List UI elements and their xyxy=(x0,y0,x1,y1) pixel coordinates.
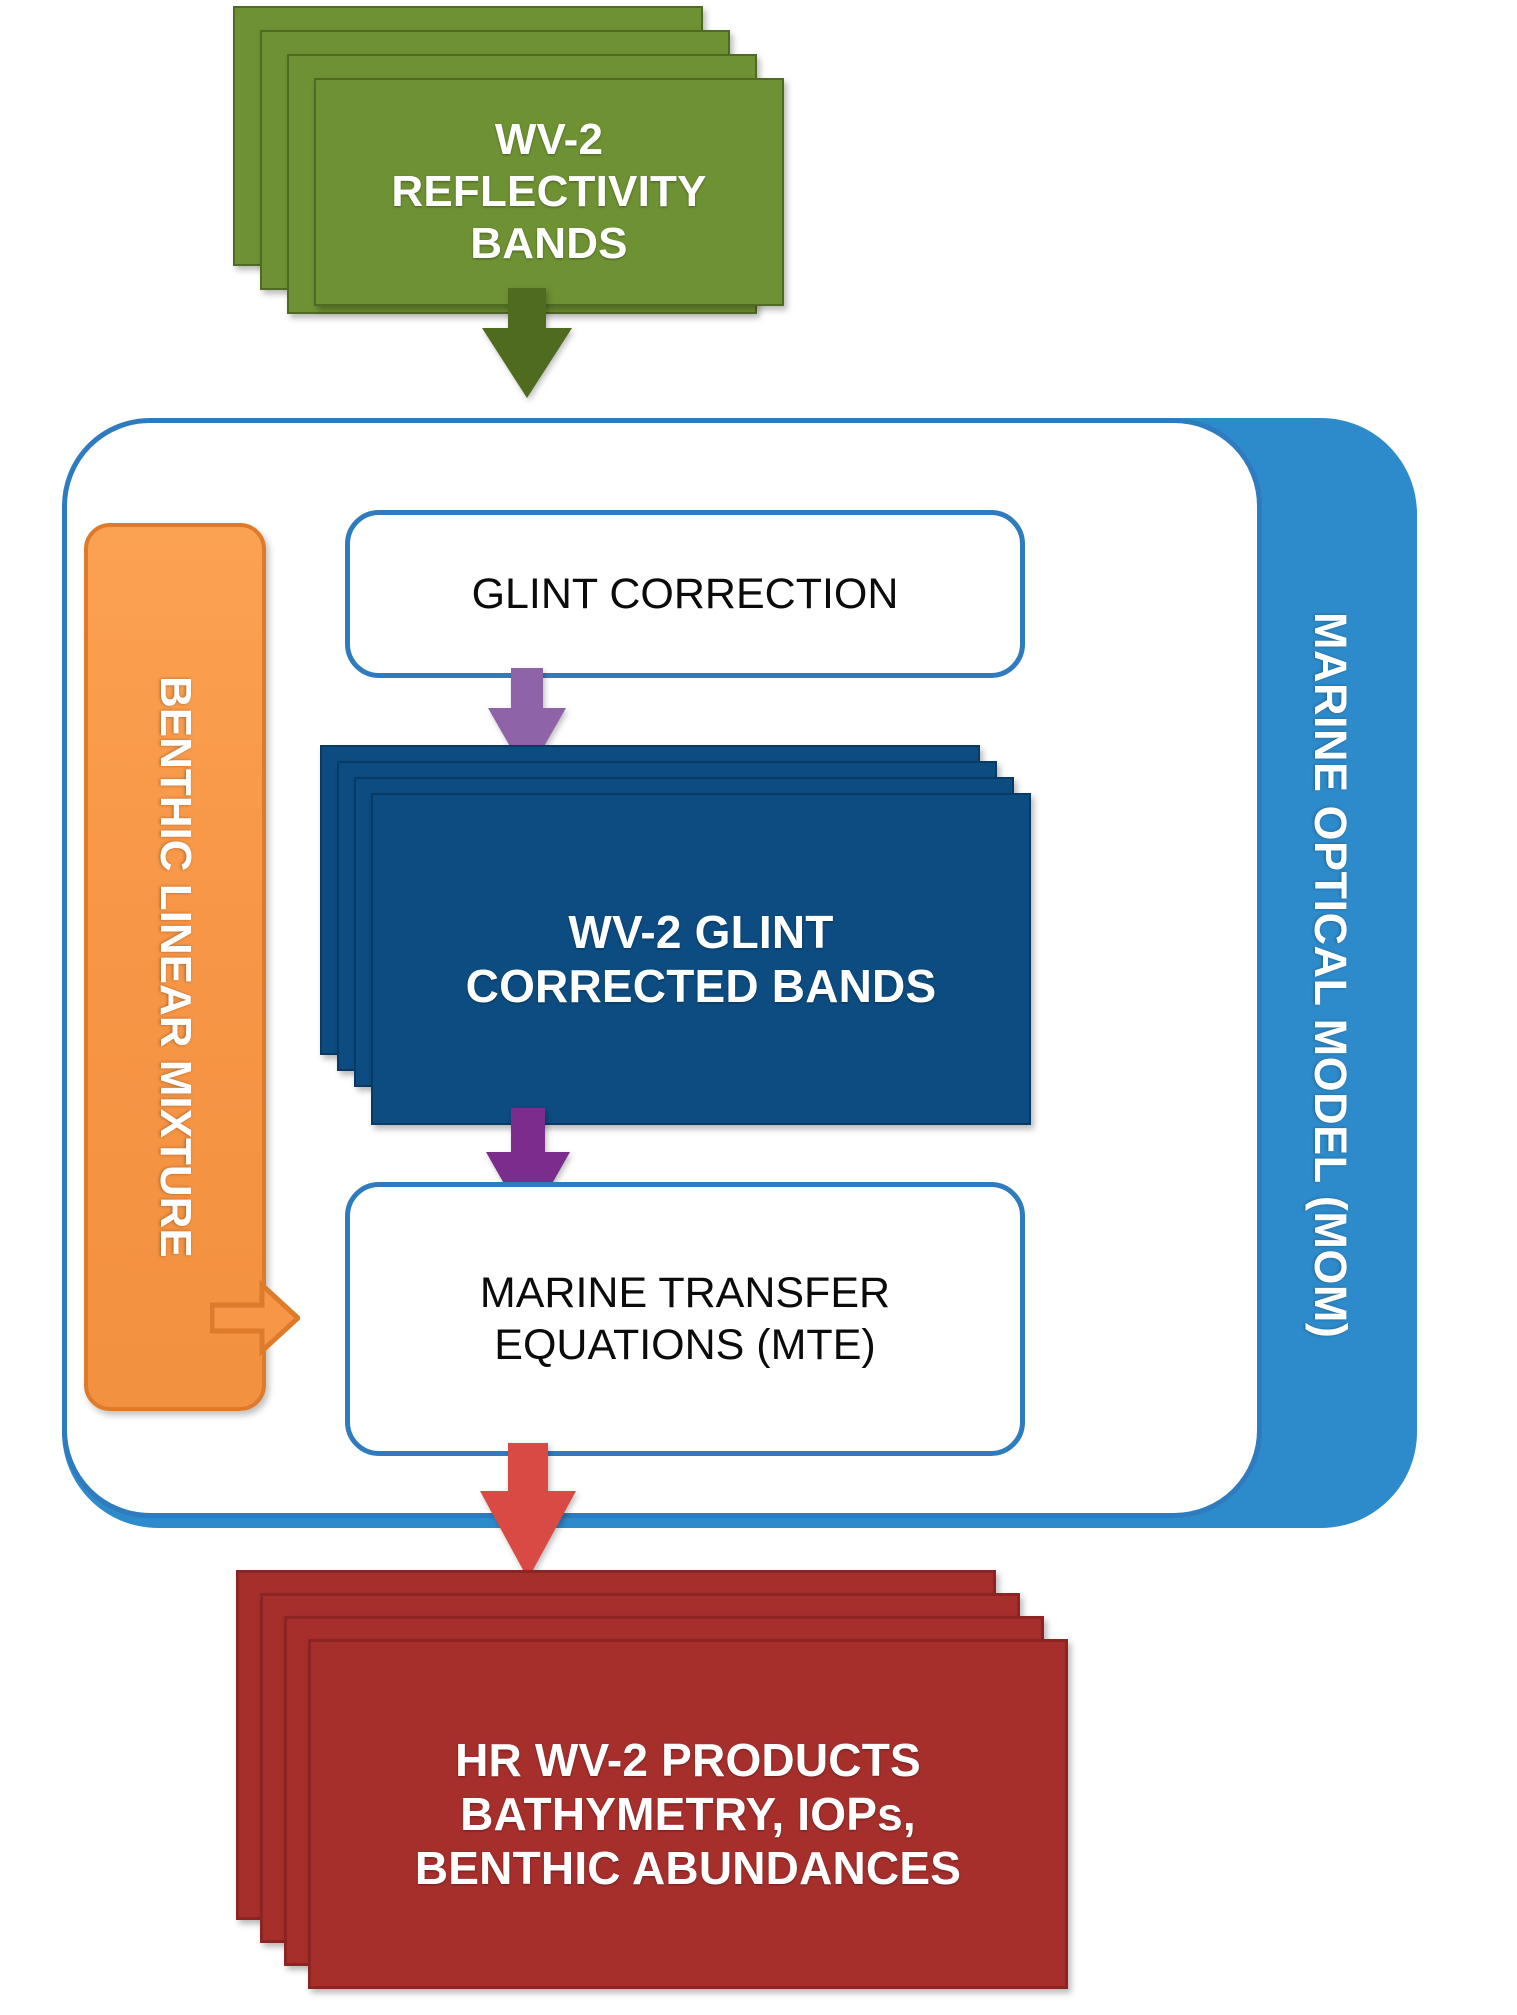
arrow-shaft xyxy=(511,668,543,710)
arrow-shaft xyxy=(508,288,546,330)
arrow-mte-to-products xyxy=(480,1443,576,1579)
stack-layer-front: HR WV-2 PRODUCTSBATHYMETRY, IOPs,BENTHIC… xyxy=(308,1639,1068,1989)
diagram-canvas: MARINE OPTICAL MODEL (MOM) BENTHIC LINEA… xyxy=(0,0,1517,2015)
marine-transfer-equations-box[interactable]: MARINE TRANSFEREQUATIONS (MTE) xyxy=(345,1182,1025,1456)
marine-transfer-equations-label: MARINE TRANSFEREQUATIONS (MTE) xyxy=(480,1267,890,1372)
hr-wv2-products-label: HR WV-2 PRODUCTSBATHYMETRY, IOPs,BENTHIC… xyxy=(415,1733,961,1896)
benthic-linear-mixture-label: BENTHIC LINEAR MIXTURE xyxy=(150,676,200,1258)
stack-layer-front: WV-2 GLINTCORRECTED BANDS xyxy=(371,793,1031,1125)
glint-correction-label: GLINT CORRECTION xyxy=(472,568,899,620)
marine-optical-model-label: MARINE OPTICAL MODEL (MOM) xyxy=(1255,430,1405,1520)
hr-wv2-products-stack[interactable]: HR WV-2 PRODUCTSBATHYMETRY, IOPs,BENTHIC… xyxy=(236,1570,1136,2000)
marine-optical-model-label-text: MARINE OPTICAL MODEL (MOM) xyxy=(1304,612,1356,1338)
arrow-right-icon xyxy=(210,1277,300,1359)
arrow-benthic-mixture-to-mte xyxy=(210,1277,300,1359)
wv2-reflectivity-bands-stack[interactable]: WV-2REFLECTIVITYBANDS xyxy=(233,6,789,306)
arrow-head xyxy=(480,1491,576,1579)
arrow-shaft xyxy=(511,1108,545,1154)
wv2-reflectivity-bands-label: WV-2REFLECTIVITYBANDS xyxy=(391,114,706,270)
wv2-glint-corrected-bands-label: WV-2 GLINTCORRECTED BANDS xyxy=(466,905,937,1014)
arrow-head xyxy=(482,328,572,398)
glint-correction-box[interactable]: GLINT CORRECTION xyxy=(345,510,1025,678)
arrow-bands-to-glint-correction xyxy=(482,288,572,398)
wv2-glint-corrected-bands-stack[interactable]: WV-2 GLINTCORRECTED BANDS xyxy=(320,745,1060,1125)
stack-layer-front: WV-2REFLECTIVITYBANDS xyxy=(314,78,784,306)
arrow-shaft xyxy=(508,1443,548,1493)
